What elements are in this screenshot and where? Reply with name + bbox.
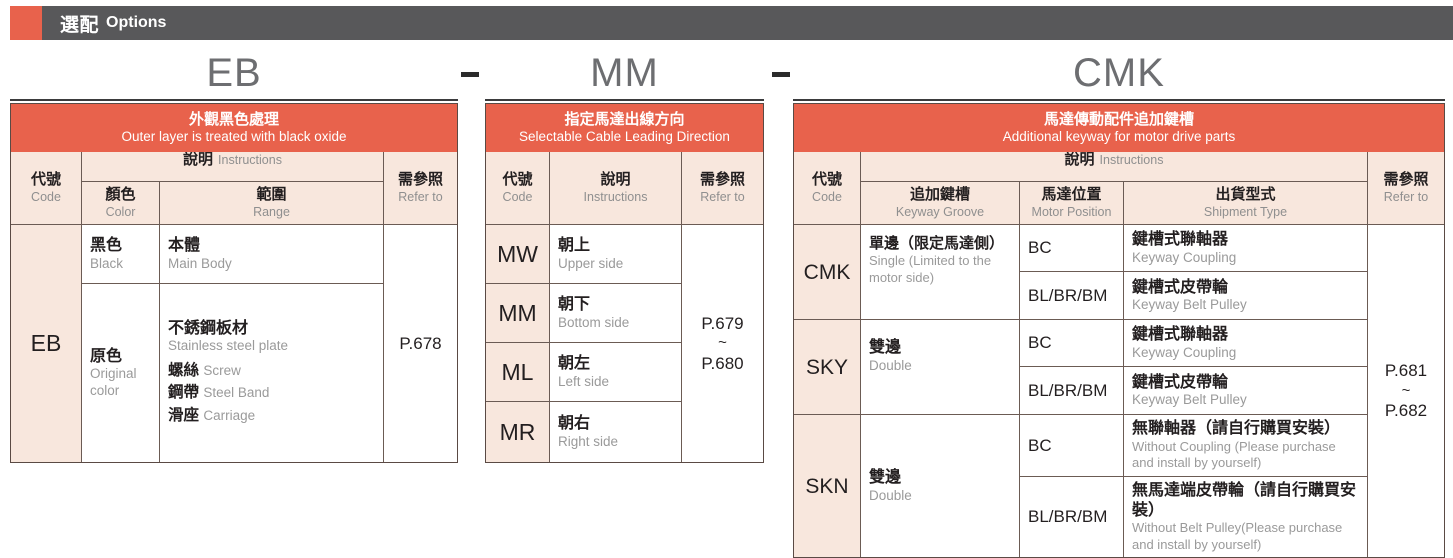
row2-item2-en: Screw xyxy=(203,363,241,378)
mm-row2-code-text: MM xyxy=(498,302,536,325)
cmk-row2-sub2-pos-text: BL/BR/BM xyxy=(1028,381,1107,401)
mm-row2-zh: 朝下 xyxy=(558,295,673,315)
cmk-row1-groove-en: Single (Limited to the motor side) xyxy=(869,253,1011,286)
cmk-refer-tilde: ~ xyxy=(1402,382,1411,401)
table-mm: 指定馬達出線方向 Selectable Cable Leading Direct… xyxy=(485,103,764,463)
header-range-zh: 範圍 xyxy=(256,187,286,204)
table-cmk-row1-sub2-pos: BL/BR/BM xyxy=(1020,272,1124,320)
table-mm-row2-code: MM xyxy=(486,284,550,343)
cmk-row3-sub1-zh: 無聯軸器（請自行購買安裝） xyxy=(1132,419,1359,439)
cmk-header-shipment-en: Shipment Type xyxy=(1204,205,1287,219)
table-cmk: 馬達傳動配件追加鍵槽 Additional keyway for motor d… xyxy=(793,103,1445,558)
header-refer-en: Refer to xyxy=(398,190,442,204)
cmk-header-motorpos-zh: 馬達位置 xyxy=(1041,187,1101,204)
row2-item3-en: Steel Band xyxy=(203,385,269,400)
table-cmk-header-instructions: 說明 Instructions xyxy=(861,152,1368,182)
table-mm-row4-code: MR xyxy=(486,402,550,462)
cmk-refer-top: P.681 xyxy=(1385,360,1427,381)
table-cmk-header-refer: 需參照 Refer to xyxy=(1368,152,1444,225)
table-cmk-refer-cell: P.681 ~ P.682 xyxy=(1368,225,1444,557)
mm-row3-zh: 朝左 xyxy=(558,354,673,374)
table-cmk-header-code: 代號 Code xyxy=(794,152,861,225)
table-mm-row1-code: MW xyxy=(486,225,550,284)
mm-header-code-zh: 代號 xyxy=(502,172,532,189)
row2-item2-zh: 螺絲 xyxy=(168,362,199,379)
table-cmk-row3-groove: 雙邊 Double xyxy=(861,415,1020,557)
cmk-row3-sub2-en: Without Belt Pulley(Please purchase and … xyxy=(1132,520,1359,553)
cmk-row2-sub1-pos-text: BC xyxy=(1028,333,1052,353)
table-eb-header-range: 範圍 Range xyxy=(160,182,384,225)
table-eb-header-color: 顏色 Color xyxy=(82,182,160,225)
table-mm-row2-desc: 朝下 Bottom side xyxy=(550,284,682,343)
table-mm-title-zh: 指定馬達出線方向 xyxy=(564,111,684,128)
table-cmk-row3-sub1-ship: 無聯軸器（請自行購買安裝） Without Coupling (Please p… xyxy=(1124,415,1368,477)
mm-row1-zh: 朝上 xyxy=(558,236,673,256)
table-cmk-row3-sub1-pos: BC xyxy=(1020,415,1124,477)
cmk-row1-sub1-en: Keyway Coupling xyxy=(1132,250,1359,266)
table-cmk-row1-sub1-pos: BC xyxy=(1020,225,1124,272)
code-title-eb: EB xyxy=(10,46,458,101)
cmk-row2-groove-en: Double xyxy=(869,358,1011,374)
row1-item1-en: Main Body xyxy=(168,256,375,272)
mm-row4-zh: 朝右 xyxy=(558,414,673,434)
table-cmk-title: 馬達傳動配件追加鍵槽 Additional keyway for motor d… xyxy=(794,104,1444,152)
cmk-refer-bottom: P.682 xyxy=(1385,400,1427,421)
header-code-zh: 代號 xyxy=(31,172,61,189)
row2-color-zh: 原色 xyxy=(90,347,151,367)
table-cmk-row3-sub2-pos: BL/BR/BM xyxy=(1020,477,1124,557)
cmk-header-groove-en: Keyway Groove xyxy=(896,205,984,219)
cmk-row1-sub2-pos-text: BL/BR/BM xyxy=(1028,286,1107,306)
table-mm-row1-desc: 朝上 Upper side xyxy=(550,225,682,284)
table-cmk-header-shipment: 出貨型式 Shipment Type xyxy=(1124,182,1368,225)
cmk-row1-sub1-pos-text: BC xyxy=(1028,238,1052,258)
cmk-row2-sub1-zh: 鍵槽式聯軸器 xyxy=(1132,325,1359,345)
cmk-row1-code-text: CMK xyxy=(804,262,851,283)
table-eb-title: 外觀黑色處理 Outer layer is treated with black… xyxy=(11,104,457,152)
table-eb: 外觀黑色處理 Outer layer is treated with black… xyxy=(10,103,458,463)
mm-header-instructions-zh: 說明 xyxy=(600,172,630,189)
table-cmk-title-zh: 馬達傳動配件追加鍵槽 xyxy=(1044,111,1194,128)
table-cmk-row1-groove: 單邊（限定馬達側） Single (Limited to the motor s… xyxy=(861,225,1020,320)
table-mm-title: 指定馬達出線方向 Selectable Cable Leading Direct… xyxy=(486,104,763,152)
mm-refer-tilde: ~ xyxy=(718,334,727,353)
mm-row3-code-text: ML xyxy=(502,361,534,384)
cmk-row3-sub1-pos-text: BC xyxy=(1028,436,1052,456)
table-eb-code-cell: EB xyxy=(11,225,82,462)
banner-title-zh: 選配 xyxy=(60,10,99,37)
row2-color-en: Original color xyxy=(90,366,151,399)
separator-dash-1 xyxy=(461,72,479,77)
table-eb-refer-cell: P.678 xyxy=(384,225,457,462)
banner-accent-block xyxy=(10,6,42,40)
cmk-row1-sub2-zh: 鍵槽式皮帶輪 xyxy=(1132,278,1359,298)
table-cmk-title-en: Additional keyway for motor drive parts xyxy=(1003,129,1236,145)
table-cmk-row2-sub2-ship: 鍵槽式皮帶輪 Keyway Belt Pulley xyxy=(1124,367,1368,415)
table-eb-row1-color: 黑色 Black xyxy=(82,225,160,284)
options-banner: 選配 Options xyxy=(0,6,1453,40)
cmk-header-code-en: Code xyxy=(812,190,842,204)
table-mm-header-code: 代號 Code xyxy=(486,152,550,225)
code-title-cmk-text: CMK xyxy=(1073,53,1165,93)
mm-row4-code-text: MR xyxy=(500,421,536,444)
row2-item4-en: Carriage xyxy=(203,408,255,423)
cmk-row2-groove-zh: 雙邊 xyxy=(869,338,1011,358)
code-title-row: EB MM CMK xyxy=(0,46,1453,101)
mm-header-instructions-en: Instructions xyxy=(584,190,648,204)
cmk-row3-groove-en: Double xyxy=(869,488,1011,504)
mm-header-code-en: Code xyxy=(503,190,533,204)
cmk-header-instructions-zh: 說明 xyxy=(1065,152,1095,169)
table-cmk-row1-sub2-ship: 鍵槽式皮帶輪 Keyway Belt Pulley xyxy=(1124,272,1368,320)
header-instructions-en: Instructions xyxy=(218,153,282,167)
header-code-en: Code xyxy=(31,190,61,204)
mm-header-refer-zh: 需參照 xyxy=(700,172,745,189)
code-title-eb-text: EB xyxy=(206,53,261,93)
cmk-header-instructions-en: Instructions xyxy=(1100,153,1164,167)
table-mm-refer-cell: P.679 ~ P.680 xyxy=(682,225,763,462)
row1-color-en: Black xyxy=(90,256,151,272)
header-refer-zh: 需參照 xyxy=(398,172,443,189)
cmk-row2-sub2-zh: 鍵槽式皮帶輪 xyxy=(1132,373,1359,393)
header-color-zh: 顏色 xyxy=(105,187,135,204)
table-eb-row2-color: 原色 Original color xyxy=(82,284,160,462)
cmk-row3-sub1-en: Without Coupling (Please purchase and in… xyxy=(1132,439,1359,472)
table-cmk-header-groove: 追加鍵槽 Keyway Groove xyxy=(861,182,1020,225)
table-mm-title-en: Selectable Cable Leading Direction xyxy=(519,129,730,145)
table-mm-row3-desc: 朝左 Left side xyxy=(550,343,682,402)
cmk-header-shipment-zh: 出貨型式 xyxy=(1215,187,1275,204)
code-title-mm: MM xyxy=(485,46,764,101)
table-cmk-header-motorpos: 馬達位置 Motor Position xyxy=(1020,182,1124,225)
table-cmk-row1-code: CMK xyxy=(794,225,861,320)
row2-item3-zh: 鋼帶 xyxy=(168,384,199,401)
table-cmk-row1-sub1-ship: 鍵槽式聯軸器 Keyway Coupling xyxy=(1124,225,1368,272)
cmk-row2-code-text: SKY xyxy=(806,357,848,378)
cmk-row1-sub1-zh: 鍵槽式聯軸器 xyxy=(1132,230,1359,250)
table-eb-refer-text: P.678 xyxy=(399,333,441,354)
mm-row3-en: Left side xyxy=(558,374,673,390)
table-cmk-row2-code: SKY xyxy=(794,320,861,415)
table-eb-title-en: Outer layer is treated with black oxide xyxy=(121,129,346,145)
row2-item1-en: Stainless steel plate xyxy=(168,338,375,354)
cmk-header-code-zh: 代號 xyxy=(812,172,842,189)
banner-title-en: Options xyxy=(106,14,166,32)
mm-row4-en: Right side xyxy=(558,434,673,450)
cmk-header-groove-zh: 追加鍵槽 xyxy=(910,187,970,204)
mm-refer-top: P.679 xyxy=(701,313,743,334)
row2-item4: 滑座 Carriage xyxy=(168,405,375,427)
row1-color-zh: 黑色 xyxy=(90,236,151,256)
table-mm-header-refer: 需參照 Refer to xyxy=(682,152,763,225)
table-eb-header-code: 代號 Code xyxy=(11,152,82,225)
cmk-row3-code-text: SKN xyxy=(805,476,848,497)
table-cmk-row3-code: SKN xyxy=(794,415,861,557)
row1-item1-zh: 本體 xyxy=(168,236,375,256)
header-color-en: Color xyxy=(106,205,136,219)
table-cmk-row2-sub1-ship: 鍵槽式聯軸器 Keyway Coupling xyxy=(1124,320,1368,367)
table-eb-title-zh: 外觀黑色處理 xyxy=(189,111,279,128)
mm-refer-bottom: P.680 xyxy=(701,353,743,374)
mm-row1-en: Upper side xyxy=(558,256,673,272)
separator-dash-2 xyxy=(772,72,790,77)
row2-item3: 鋼帶 Steel Band xyxy=(168,382,375,404)
table-eb-header-instructions: 說明 Instructions xyxy=(82,152,384,182)
cmk-header-refer-zh: 需參照 xyxy=(1383,172,1428,189)
cmk-row2-sub1-en: Keyway Coupling xyxy=(1132,345,1359,361)
row2-item2: 螺絲 Screw xyxy=(168,360,375,382)
cmk-header-refer-en: Refer to xyxy=(1384,190,1428,204)
table-cmk-row2-sub2-pos: BL/BR/BM xyxy=(1020,367,1124,415)
table-mm-row4-desc: 朝右 Right side xyxy=(550,402,682,462)
mm-row1-code-text: MW xyxy=(497,243,538,266)
header-range-en: Range xyxy=(253,205,290,219)
header-instructions-zh: 說明 xyxy=(183,152,213,169)
table-cmk-row2-groove: 雙邊 Double xyxy=(861,320,1020,415)
table-cmk-row3-sub2-ship: 無馬達端皮帶輪（請自行購買安裝） Without Belt Pulley(Ple… xyxy=(1124,477,1368,557)
table-eb-code-text: EB xyxy=(31,332,62,355)
table-eb-header-refer: 需參照 Refer to xyxy=(384,152,457,225)
cmk-row3-sub2-pos-text: BL/BR/BM xyxy=(1028,507,1107,527)
table-mm-row3-code: ML xyxy=(486,343,550,402)
cmk-header-motorpos-en: Motor Position xyxy=(1032,205,1112,219)
table-eb-row1-range: 本體 Main Body xyxy=(160,225,384,284)
cmk-row2-sub2-en: Keyway Belt Pulley xyxy=(1132,392,1359,408)
cmk-row1-sub2-en: Keyway Belt Pulley xyxy=(1132,297,1359,313)
row2-item1-zh: 不銹鋼板材 xyxy=(168,319,375,339)
code-title-cmk: CMK xyxy=(793,46,1445,101)
cmk-row1-groove-zh: 單邊（限定馬達側） xyxy=(869,235,1011,253)
table-eb-row2-range: 不銹鋼板材 Stainless steel plate 螺絲 Screw 鋼帶 … xyxy=(160,284,384,462)
cmk-row3-sub2-zh: 無馬達端皮帶輪（請自行購買安裝） xyxy=(1132,481,1359,520)
banner-bar: 選配 Options xyxy=(42,6,1453,40)
cmk-row3-groove-zh: 雙邊 xyxy=(869,468,1011,488)
row2-item4-zh: 滑座 xyxy=(168,407,199,424)
code-title-mm-text: MM xyxy=(590,53,659,93)
mm-header-refer-en: Refer to xyxy=(700,190,744,204)
table-mm-header-instructions: 說明 Instructions xyxy=(550,152,682,225)
table-cmk-row2-sub1-pos: BC xyxy=(1020,320,1124,367)
mm-row2-en: Bottom side xyxy=(558,315,673,331)
